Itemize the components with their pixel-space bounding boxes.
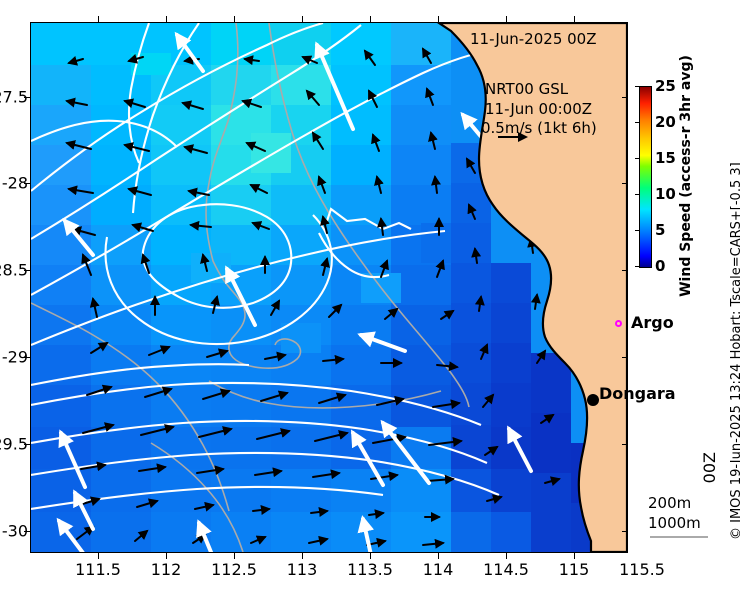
x-tick-label: 112.5 [211,560,257,579]
x-tick-top [302,16,303,22]
argo-label: Argo [631,313,674,332]
x-tick-label: 112 [151,560,182,579]
colorbar-label: 25 [655,77,676,95]
x-tick [302,553,303,559]
colorbar-label: 20 [655,113,676,131]
bathy-legend-200m: 200m [648,494,691,512]
y-tick-label: -28 [2,174,28,193]
bathy-legend-1000m: 1000m [648,514,701,532]
x-tick [166,553,167,559]
colorbar-title: Wind Speed (access-r 3hr avg) [678,55,694,297]
x-tick-top [166,16,167,22]
y-tick-right [622,531,628,532]
x-tick-label: 114 [423,560,454,579]
x-tick-top [438,16,439,22]
x-tick [234,553,235,559]
colorbar-label: 10 [655,185,676,203]
argo-marker-icon[interactable] [615,320,622,327]
x-tick-top [506,16,507,22]
x-tick [370,553,371,559]
x-tick-label: 111.5 [75,560,121,579]
date-stamp: 11-Jun-2025 00Z [470,30,597,48]
x-tick [506,553,507,559]
colorbar-tick [635,230,639,231]
x-tick-top [574,16,575,22]
colorbar-tick [635,266,639,267]
credit-text: © IMOS 19-Jun-2025 13:24 Hobart; Tscale=… [729,162,740,540]
bathy-legend-line [650,536,708,538]
model-time-label: 11-Jun 00:00Z [485,100,592,118]
y-tick-right [622,183,628,184]
y-tick-label: -27.5 [0,88,28,107]
y-tick-right [622,97,628,98]
y-tick-label: -30 [2,522,28,541]
x-tick [438,553,439,559]
model-name-label: NRT00 GSL [485,80,568,98]
colorbar-label: 15 [655,149,676,167]
colorbar-label: 5 [655,221,665,239]
colorbar-tick [635,194,639,195]
y-tick-label: -29 [2,348,28,367]
figure-canvas: 111.5 112 112.5 113 113.5 114 114.5 115 … [0,0,740,592]
x-tick-label: 114.5 [483,560,529,579]
x-tick-label: 113.5 [347,560,393,579]
edge-time-label: 00Z [700,452,719,483]
colorbar-tick [635,86,639,87]
x-tick-top [370,16,371,22]
colorbar-label: 0 [655,257,665,275]
dongara-marker-icon[interactable] [587,394,599,406]
y-tick-label: -28.5 [0,261,28,280]
x-tick-top [98,16,99,22]
dongara-label: Dongara [599,384,676,403]
y-tick-label: -29.5 [0,435,28,454]
y-tick-right [622,357,628,358]
x-tick-label: 113 [287,560,318,579]
x-tick-label: 115.5 [619,560,665,579]
reference-vector-arrow-icon [496,130,536,144]
y-tick-right [622,444,628,445]
colorbar[interactable] [639,86,652,268]
x-tick-label: 115 [559,560,590,579]
x-tick [98,553,99,559]
x-tick-top [234,16,235,22]
colorbar-tick [635,122,639,123]
x-tick [574,553,575,559]
y-tick-right [622,270,628,271]
colorbar-tick [635,158,639,159]
